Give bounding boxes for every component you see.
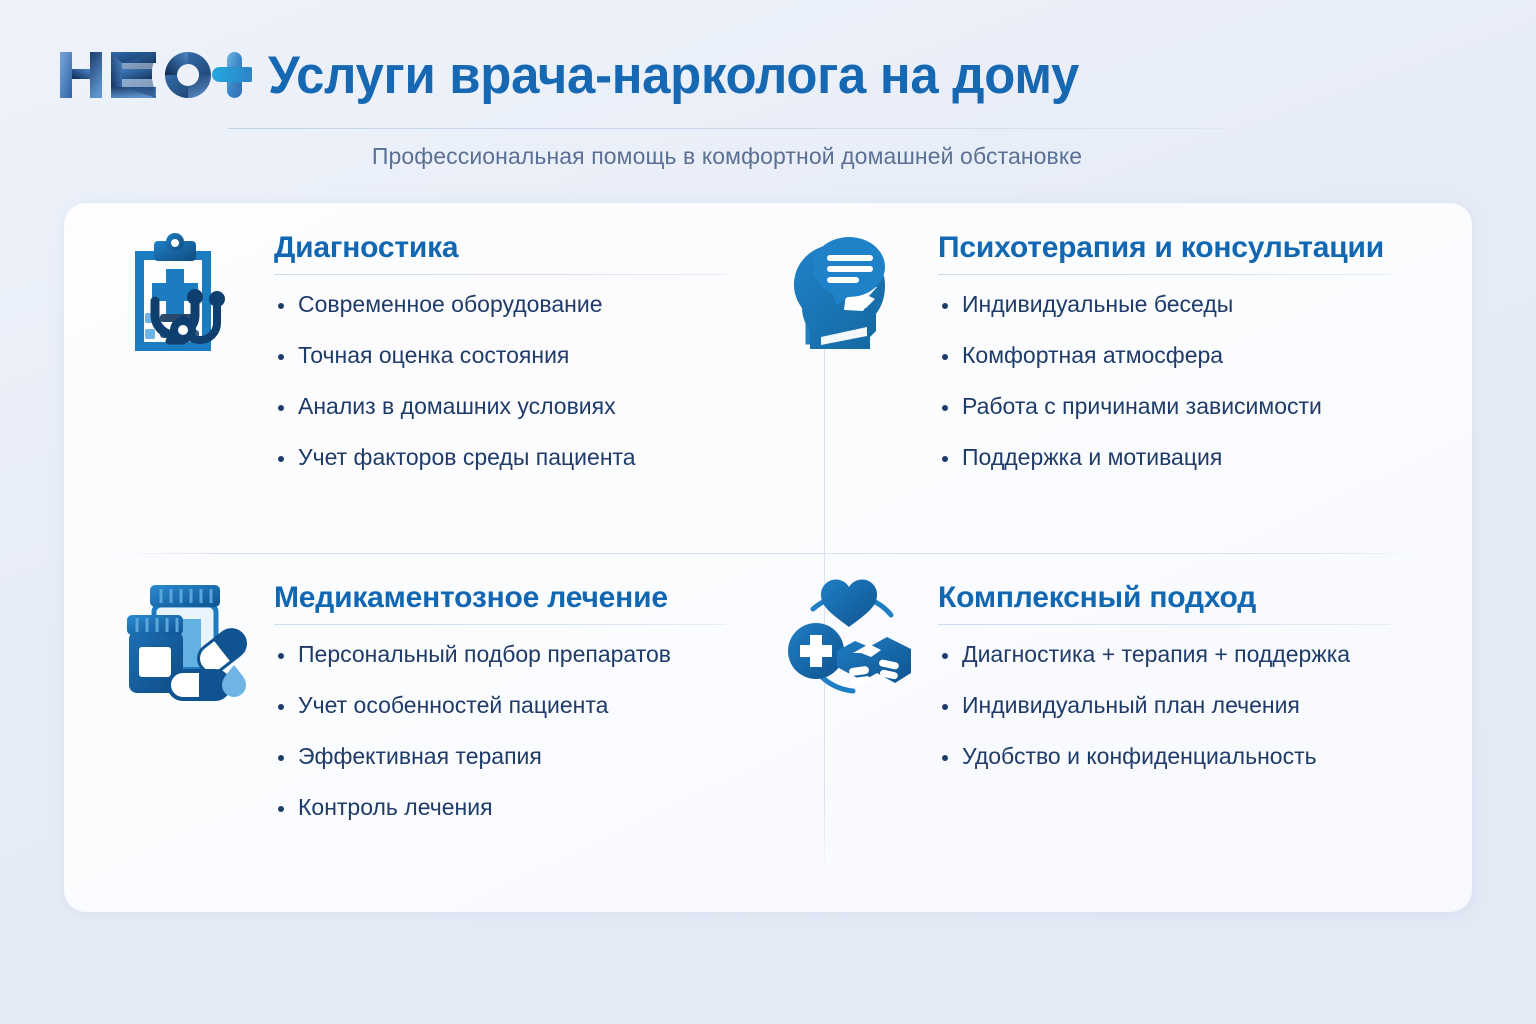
card-body: Комплексный подход Диагностика + терапия… xyxy=(924,575,1472,768)
page-subtitle: Профессиональная помощь в комфортной дом… xyxy=(228,143,1226,170)
list-item: Анализ в домашних условиях xyxy=(274,395,810,418)
card-title: Психотерапия и консультации xyxy=(938,231,1472,264)
clipboard-stethoscope-icon xyxy=(110,225,260,379)
list-item: Персональный подбор препаратов xyxy=(274,643,810,666)
list-item: Учет особенностей пациента xyxy=(274,694,810,717)
card-body: Диагностика Современное оборудование Точ… xyxy=(260,225,810,469)
header-divider xyxy=(228,128,1226,129)
service-card-complex-approach[interactable]: Комплексный подход Диагностика + терапия… xyxy=(774,575,1472,768)
list-item: Учет факторов среды пациента xyxy=(274,446,810,469)
service-card-psychotherapy[interactable]: Психотерапия и консультации Индивидуальн… xyxy=(774,225,1472,469)
header-row: Услуги врача-нарколога на дому xyxy=(56,42,1113,108)
list-item: Современное оборудование xyxy=(274,293,810,316)
services-panel: Диагностика Современное оборудование Точ… xyxy=(64,203,1472,912)
neo-plus-logo xyxy=(56,42,252,108)
list-item: Диагностика + терапия + поддержка xyxy=(938,643,1472,666)
card-bullet-list: Индивидуальные беседы Комфортная атмосфе… xyxy=(938,293,1472,469)
list-item: Контроль лечения xyxy=(274,796,810,819)
card-bullet-list: Персональный подбор препаратов Учет особ… xyxy=(274,643,810,819)
card-title: Медикаментозное лечение xyxy=(274,581,810,614)
list-item: Эффективная терапия xyxy=(274,745,810,768)
service-card-diagnostics[interactable]: Диагностика Современное оборудование Точ… xyxy=(110,225,810,469)
card-title: Диагностика xyxy=(274,231,810,264)
list-item: Удобство и конфиденциальность xyxy=(938,745,1472,768)
card-bullet-list: Диагностика + терапия + поддержка Индиви… xyxy=(938,643,1472,768)
heart-handshake-cross-icon xyxy=(774,575,924,729)
header: Услуги врача-нарколога на дому Профессио… xyxy=(0,0,1536,190)
card-title-underline xyxy=(938,274,1390,275)
medicine-bottles-pills-icon xyxy=(110,575,260,729)
infographic-page: Услуги врача-нарколога на дому Профессио… xyxy=(0,0,1536,1024)
card-title-underline xyxy=(274,274,726,275)
list-item: Комфортная атмосфера xyxy=(938,344,1472,367)
card-title-underline xyxy=(938,624,1390,625)
card-title: Комплексный подход xyxy=(938,581,1472,614)
card-bullet-list: Современное оборудование Точная оценка с… xyxy=(274,293,810,469)
page-title: Услуги врача-нарколога на дому xyxy=(268,49,1079,102)
head-speech-bubble-icon xyxy=(774,225,924,379)
card-title-underline xyxy=(274,624,726,625)
card-body: Медикаментозное лечение Персональный под… xyxy=(260,575,810,819)
card-body: Психотерапия и консультации Индивидуальн… xyxy=(924,225,1472,469)
service-card-medication[interactable]: Медикаментозное лечение Персональный под… xyxy=(110,575,810,819)
list-item: Поддержка и мотивация xyxy=(938,446,1472,469)
list-item: Работа с причинами зависимости xyxy=(938,395,1472,418)
horizontal-divider xyxy=(112,553,1424,554)
list-item: Точная оценка состояния xyxy=(274,344,810,367)
list-item: Индивидуальные беседы xyxy=(938,293,1472,316)
list-item: Индивидуальный план лечения xyxy=(938,694,1472,717)
